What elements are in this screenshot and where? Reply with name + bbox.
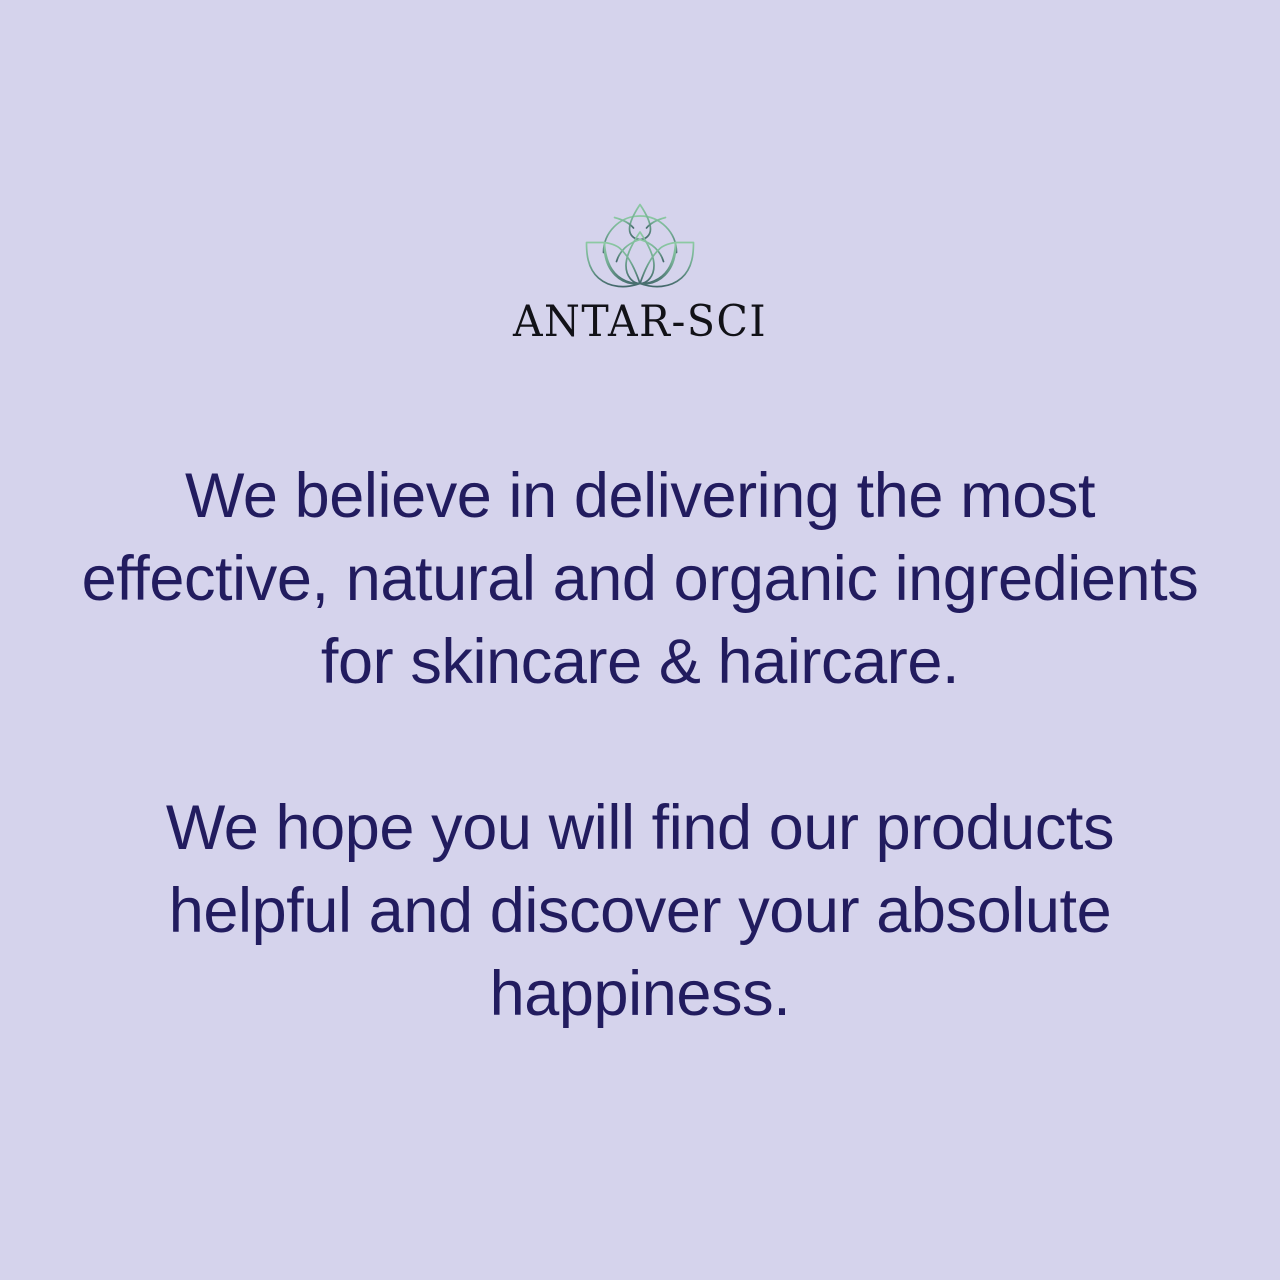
statement-line: happiness.: [64, 953, 1216, 1036]
statement-line: for skincare & haircare.: [64, 621, 1216, 704]
brand-wordmark: ANTAR-SCI: [513, 300, 767, 343]
statement-line: We hope you will find our products: [64, 787, 1216, 870]
statement-paragraph: We hope you will find our products helpf…: [64, 787, 1216, 1036]
lotus-flower-icon: [574, 196, 706, 292]
brand-lockup: ANTAR-SCI: [0, 196, 1280, 341]
statement-line: We believe in delivering the most: [64, 455, 1216, 538]
statement-paragraph: We believe in delivering the most effect…: [64, 455, 1216, 704]
brand-statement-card: ANTAR-SCI We believe in delivering the m…: [0, 0, 1280, 1280]
statement-block: We believe in delivering the most effect…: [64, 455, 1216, 1036]
statement-line: helpful and discover your absolute: [64, 870, 1216, 953]
statement-line: effective, natural and organic ingredien…: [64, 538, 1216, 621]
